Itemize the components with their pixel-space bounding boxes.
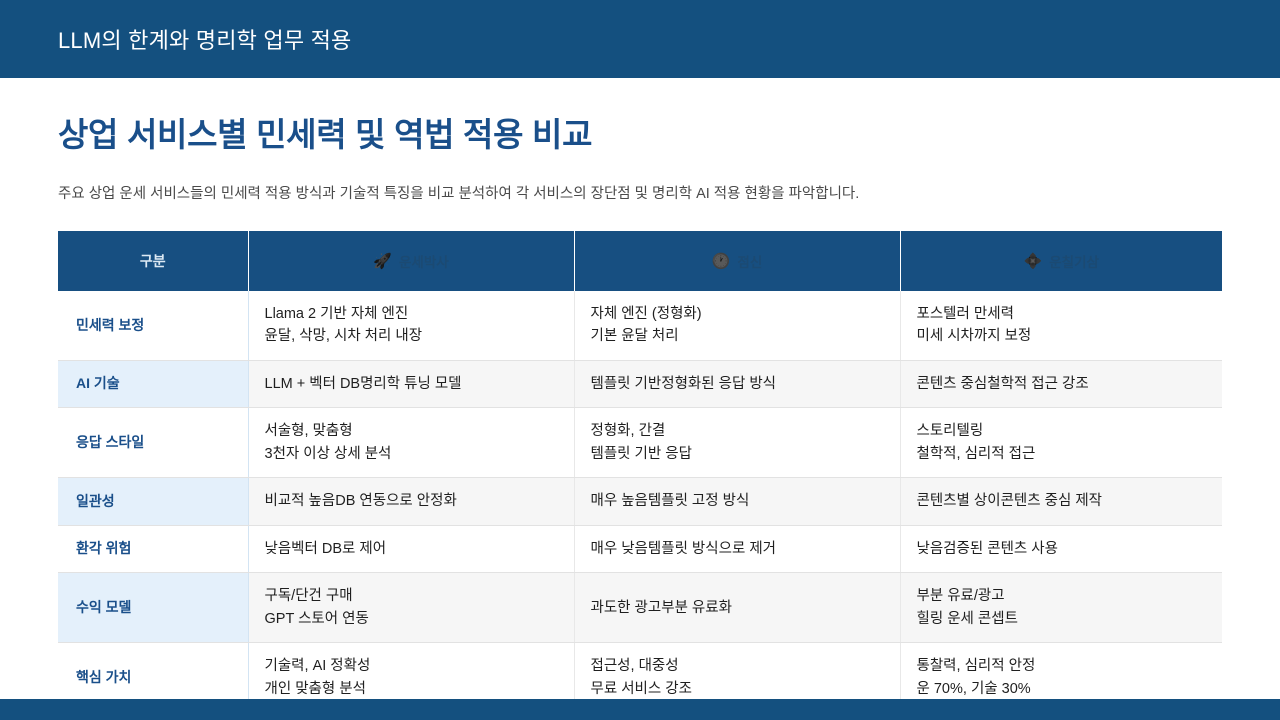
table-row: 응답 스타일서술형, 맞춤형3천자 이상 상세 분석정형화, 간결템플릿 기반 …: [58, 408, 1222, 478]
table-cell: 템플릿 기반정형화된 응답 방식: [574, 360, 900, 407]
column-header-service-3: 💠 운칠기삼: [900, 231, 1222, 291]
cell-line: 매우 낮음템플릿 방식으로 제거: [591, 538, 884, 560]
cell-line: 운 70%, 기술 30%: [917, 678, 1207, 700]
cell-line: 부분 유료/광고: [917, 585, 1207, 607]
cell-line: 콘텐츠 중심철학적 접근 강조: [917, 373, 1207, 395]
cell-line: 낮음검증된 콘텐츠 사용: [917, 538, 1207, 560]
page-subtitle: 주요 상업 운세 서비스들의 민세력 적용 방식과 기술적 특징을 비교 분석하…: [58, 182, 1222, 203]
row-label: 민세력 보정: [58, 291, 248, 360]
table-cell: 낮음검증된 콘텐츠 사용: [900, 525, 1222, 572]
clock-icon: 🕐: [712, 254, 731, 269]
cell-line: 템플릿 기반 응답: [591, 443, 884, 465]
table-cell: 콘텐츠별 상이콘텐츠 중심 제작: [900, 478, 1222, 525]
cell-line: 서술형, 맞춤형: [265, 420, 558, 442]
table-row: 수익 모델구독/단건 구매GPT 스토어 연동과도한 광고부분 유료화부분 유료…: [58, 573, 1222, 643]
page-title: 상업 서비스별 민세력 및 역법 적용 비교: [58, 108, 1222, 156]
cell-line: Llama 2 기반 자체 엔진: [265, 303, 558, 325]
gem-icon: 💠: [1024, 254, 1043, 269]
table-cell: 과도한 광고부분 유료화: [574, 573, 900, 643]
bottom-bar: [0, 699, 1280, 720]
table-row: AI 기술LLM + 벡터 DB명리학 튜닝 모델템플릿 기반정형화된 응답 방…: [58, 360, 1222, 407]
column-header-service-2-label: 점신: [737, 251, 762, 271]
table-cell: 서술형, 맞춤형3천자 이상 상세 분석: [248, 408, 574, 478]
row-label: 수익 모델: [58, 573, 248, 643]
column-header-service-3-label: 운칠기삼: [1049, 251, 1099, 271]
cell-line: 미세 시차까지 보정: [917, 325, 1207, 347]
column-header-service-1-label: 운세박사: [399, 251, 449, 271]
row-label: 일관성: [58, 478, 248, 525]
table-cell: 구독/단건 구매GPT 스토어 연동: [248, 573, 574, 643]
table-cell: 정형화, 간결템플릿 기반 응답: [574, 408, 900, 478]
table-cell: 콘텐츠 중심철학적 접근 강조: [900, 360, 1222, 407]
cell-line: 기본 윤달 처리: [591, 325, 884, 347]
cell-line: 철학적, 심리적 접근: [917, 443, 1207, 465]
cell-line: 매우 높음템플릿 고정 방식: [591, 490, 884, 512]
table-cell: 포스텔러 만세력미세 시차까지 보정: [900, 291, 1222, 360]
table-row: 일관성비교적 높음DB 연동으로 안정화매우 높음템플릿 고정 방식콘텐츠별 상…: [58, 478, 1222, 525]
cell-line: 개인 맞춤형 분석: [265, 678, 558, 700]
cell-line: LLM + 벡터 DB명리학 튜닝 모델: [265, 373, 558, 395]
cell-line: 템플릿 기반정형화된 응답 방식: [591, 373, 884, 395]
row-label: 환각 위험: [58, 525, 248, 572]
cell-line: 기술력, AI 정확성: [265, 655, 558, 677]
table-cell: 자체 엔진 (정형화)기본 윤달 처리: [574, 291, 900, 360]
cell-line: 윤달, 삭망, 시차 처리 내장: [265, 325, 558, 347]
table-cell: LLM + 벡터 DB명리학 튜닝 모델: [248, 360, 574, 407]
cell-line: 자체 엔진 (정형화): [591, 303, 884, 325]
row-label: 응답 스타일: [58, 408, 248, 478]
table-header-row: 구분 🚀 운세박사 🕐 점신: [58, 231, 1222, 291]
table-cell: 부분 유료/광고힐링 운세 콘셉트: [900, 573, 1222, 643]
slide-content: 상업 서비스별 민세력 및 역법 적용 비교 주요 상업 운세 서비스들의 민세…: [0, 108, 1280, 713]
table-cell: Llama 2 기반 자체 엔진윤달, 삭망, 시차 처리 내장: [248, 291, 574, 360]
cell-line: 정형화, 간결: [591, 420, 884, 442]
table-cell: 매우 높음템플릿 고정 방식: [574, 478, 900, 525]
table-cell: 낮음벡터 DB로 제어: [248, 525, 574, 572]
rocket-icon: 🚀: [373, 254, 392, 269]
cell-line: GPT 스토어 연동: [265, 608, 558, 630]
column-header-category: 구분: [58, 231, 248, 291]
column-header-service-1: 🚀 운세박사: [248, 231, 574, 291]
cell-line: 구독/단건 구매: [265, 585, 558, 607]
cell-line: 3천자 이상 상세 분석: [265, 443, 558, 465]
deck-title: LLM의 한계와 명리학 업무 적용: [58, 23, 352, 55]
comparison-table: 구분 🚀 운세박사 🕐 점신: [58, 231, 1222, 713]
cell-line: 과도한 광고부분 유료화: [591, 597, 884, 619]
cell-line: 콘텐츠별 상이콘텐츠 중심 제작: [917, 490, 1207, 512]
row-label: AI 기술: [58, 360, 248, 407]
table-head: 구분 🚀 운세박사 🕐 점신: [58, 231, 1222, 291]
comparison-table-wrapper: 구분 🚀 운세박사 🕐 점신: [58, 231, 1222, 713]
cell-line: 접근성, 대중성: [591, 655, 884, 677]
cell-line: 통찰력, 심리적 안정: [917, 655, 1207, 677]
table-body: 민세력 보정Llama 2 기반 자체 엔진윤달, 삭망, 시차 처리 내장자체…: [58, 291, 1222, 713]
column-header-category-label: 구분: [140, 253, 166, 269]
cell-line: 무료 서비스 강조: [591, 678, 884, 700]
table-row: 민세력 보정Llama 2 기반 자체 엔진윤달, 삭망, 시차 처리 내장자체…: [58, 291, 1222, 360]
column-header-service-2: 🕐 점신: [574, 231, 900, 291]
table-cell: 스토리텔링철학적, 심리적 접근: [900, 408, 1222, 478]
table-row: 환각 위험낮음벡터 DB로 제어매우 낮음템플릿 방식으로 제거낮음검증된 콘텐…: [58, 525, 1222, 572]
cell-line: 낮음벡터 DB로 제어: [265, 538, 558, 560]
cell-line: 비교적 높음DB 연동으로 안정화: [265, 490, 558, 512]
cell-line: 포스텔러 만세력: [917, 303, 1207, 325]
cell-line: 힐링 운세 콘셉트: [917, 608, 1207, 630]
cell-line: 스토리텔링: [917, 420, 1207, 442]
table-cell: 비교적 높음DB 연동으로 안정화: [248, 478, 574, 525]
top-banner: LLM의 한계와 명리학 업무 적용: [0, 0, 1280, 78]
table-cell: 매우 낮음템플릿 방식으로 제거: [574, 525, 900, 572]
